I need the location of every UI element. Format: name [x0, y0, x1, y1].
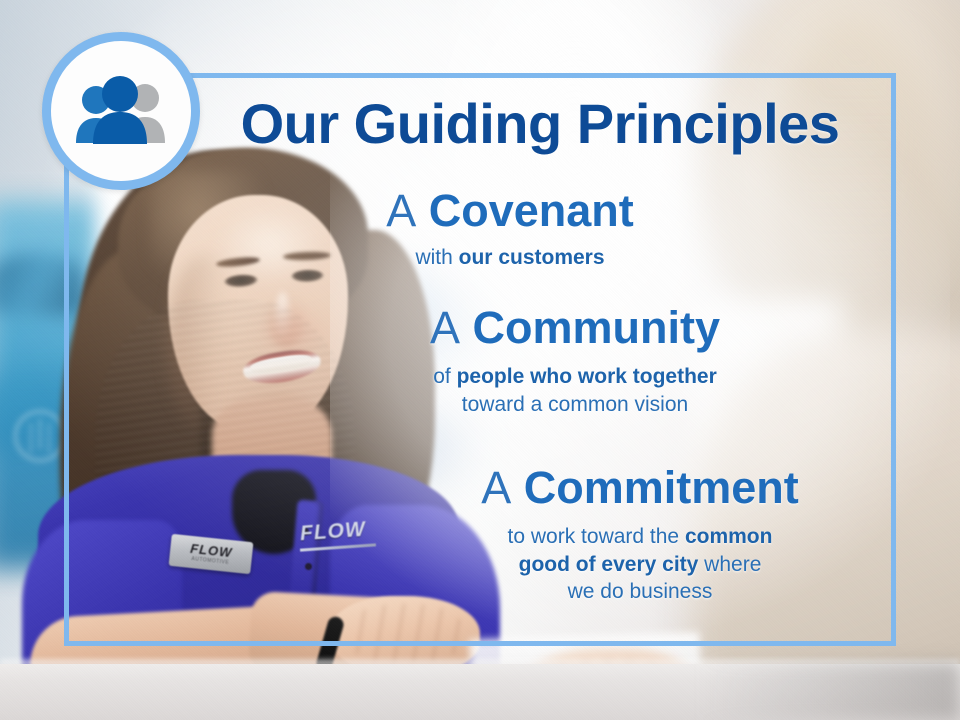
description-text-bold: common — [685, 525, 773, 548]
principle-description-community: of people who work together toward a com… — [345, 363, 805, 418]
principle-keyword: Covenant — [429, 185, 634, 236]
description-line: with our customers — [300, 244, 720, 272]
principle-block-commitment: A Commitment to work toward the common g… — [395, 465, 885, 606]
shirt-button-bottom — [305, 563, 312, 570]
principle-keyword: Commitment — [524, 462, 799, 513]
principle-description-covenant: with our customers — [300, 244, 720, 272]
description-line: toward a common vision — [345, 391, 805, 419]
description-line: we do business — [395, 578, 885, 606]
principle-article: A — [430, 302, 460, 353]
principle-description-commitment: to work toward the common good of every … — [395, 523, 885, 606]
principle-heading-community: A Community — [345, 305, 805, 352]
description-line: good of every city where — [395, 551, 885, 579]
description-text-bold: our customers — [459, 246, 605, 269]
principle-heading-commitment: A Commitment — [395, 465, 885, 512]
poster-canvas: FLOW AUTOMOTIVE FLOW — [0, 0, 960, 720]
description-text-normal: with — [415, 246, 458, 269]
people-group-icon-badge — [42, 32, 200, 190]
page-title: Our Guiding Principles — [200, 96, 880, 152]
people-group-icon — [69, 75, 173, 147]
description-text-bold: people who work together — [457, 365, 717, 388]
blurred-customer-hair — [770, 10, 940, 340]
description-line: to work toward the common — [395, 523, 885, 551]
description-text-normal: of — [433, 365, 456, 388]
description-line: of people who work together — [345, 363, 805, 391]
description-text-normal: we do business — [568, 580, 713, 603]
description-text-bold: good of every city — [519, 553, 699, 576]
finger-detail — [345, 604, 465, 664]
principle-heading-covenant: A Covenant — [300, 188, 720, 235]
description-text-normal-after: where — [698, 553, 761, 576]
principle-block-covenant: A Covenant with our customers — [300, 188, 720, 272]
principle-article: A — [386, 185, 416, 236]
shirt-embroidered-logo: FLOW — [299, 518, 366, 547]
principle-article: A — [481, 462, 511, 513]
principle-block-community: A Community of people who work together … — [345, 305, 805, 418]
principle-keyword: Community — [473, 302, 721, 353]
description-text-normal: to work toward the — [508, 525, 685, 548]
desk-shadow — [700, 662, 960, 720]
description-text-normal: toward a common vision — [462, 393, 688, 416]
